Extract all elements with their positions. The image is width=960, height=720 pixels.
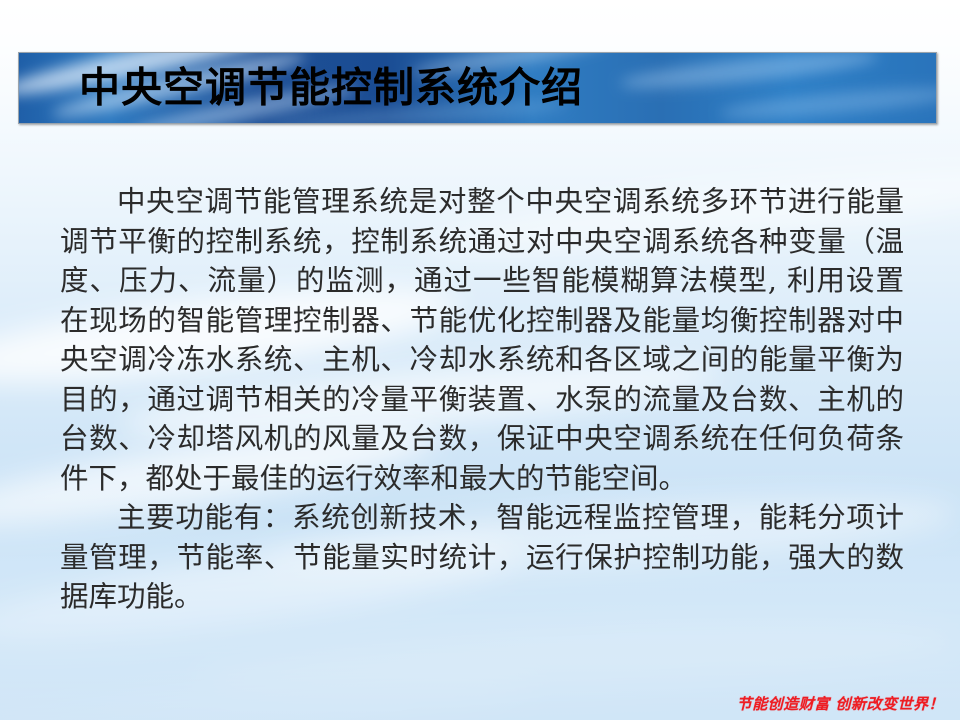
banner-cloud-streak (619, 52, 880, 95)
footer-slogan: 节能创造财富 创新改变世界！ (737, 693, 944, 714)
banner-cloud-streak (719, 83, 937, 124)
body-paragraph-1: 中央空调节能管理系统是对整个中央空调系统多环节进行能量调节平衡的控制系统，控制系… (60, 182, 904, 498)
slide-body: 中央空调节能管理系统是对整个中央空调系统多环节进行能量调节平衡的控制系统，控制系… (60, 182, 904, 617)
slide-canvas: 中央空调节能控制系统介绍 中央空调节能管理系统是对整个中央空调系统多环节进行能量… (0, 0, 960, 720)
title-banner: 中央空调节能控制系统介绍 (18, 52, 937, 124)
slide-title: 中央空调节能控制系统介绍 (79, 68, 583, 109)
body-paragraph-2: 主要功能有：系统创新技术，智能远程监控管理，能耗分项计量管理，节能率、节能量实时… (60, 498, 904, 617)
